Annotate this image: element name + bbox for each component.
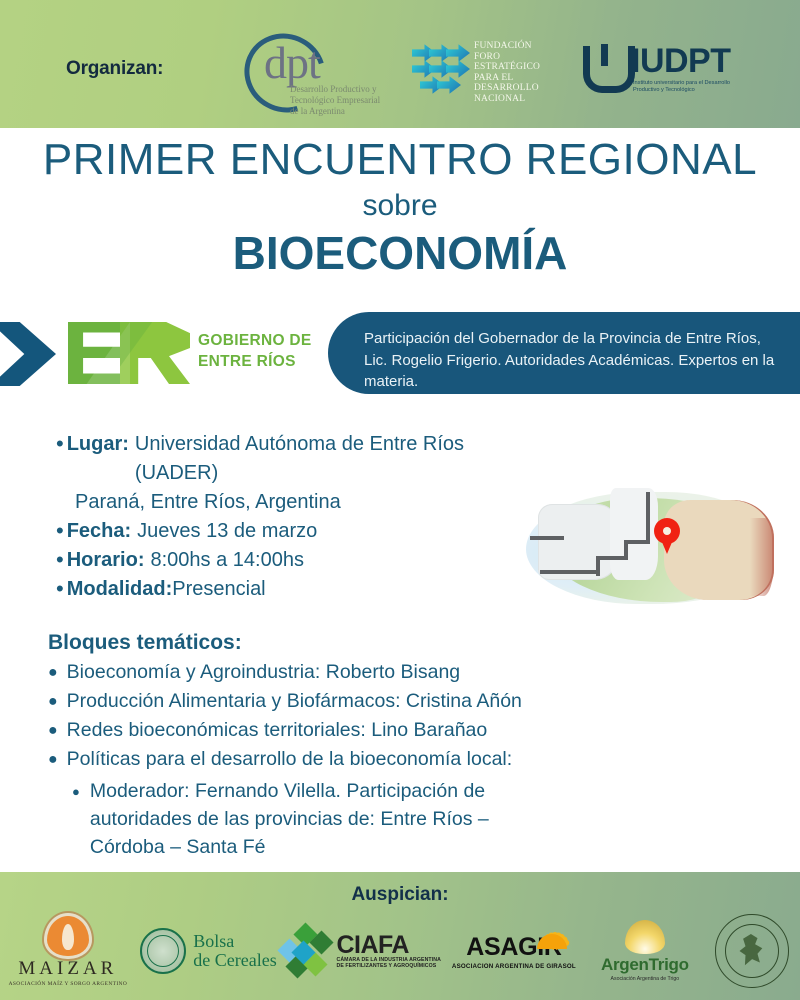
ciafa-wordmark: CIAFA [336,933,440,957]
asagir-subtitle: ASOCIACION ARGENTINA DE GIRASOL [441,963,586,970]
unl-seal-icon [715,914,789,988]
detail-row-modalidad: • Modalidad: Presencial [56,575,486,604]
iudpt-logo: IUDPT Instituto universitario para el De… [583,44,753,102]
map-pin-dot [663,527,671,535]
detail-value-modalidad: Presencial [172,575,265,604]
detail-key-lugar: Lugar: [67,430,129,459]
ciafa-diamonds-icon [281,926,331,976]
bullet-icon: ● [72,777,80,806]
title-line-primary: PRIMER ENCUENTRO REGIONAL [0,133,800,187]
bullet-icon: • [56,575,64,602]
thematic-block-item: ● Producción Alimentaria y Biofármacos: … [48,687,648,716]
detail-row-horario: • Horario: 8:00hs a 14:00hs [56,546,486,575]
detail-value-horario: 8:00hs a 14:00hs [151,546,304,575]
participation-note-text: Participación del Gobernador de la Provi… [364,328,780,393]
detail-key-modalidad: Modalidad: [67,575,173,604]
argentrigo-wordmark: ArgenTrigo [587,955,703,975]
map-region-west [538,504,618,580]
bolsa-wordmark-line-2: de Cereales [193,951,276,970]
argentrigo-wordmark-part-2: Trigo [649,955,689,974]
thematic-block-item-label: Redes bioeconómicas territoriales: Lino … [67,716,488,745]
thematic-block-item-label: Producción Alimentaria y Biofármacos: Cr… [67,687,522,716]
map-region-border [750,518,774,596]
ciafa-wordmark-group: CIAFA CÁMARA DE LA INDUSTRIA ARGENTINA D… [336,933,440,970]
arrows-icon [412,43,470,95]
bullet-icon: ● [48,687,58,716]
bolsa-wordmark: Bolsa de Cereales [193,932,276,970]
detail-row-lugar: • Lugar: Universidad Autónoma de Entre R… [56,430,486,488]
bullet-icon: ● [48,745,58,774]
sponsor-logo-universidad-nacional-del-litoral: UNIVERSIDAD NACIONAL DEL LITORAL LUX IND… [703,914,800,988]
iudpt-wordmark: IUDPT [631,44,731,78]
bolsa-wordmark-line-1: Bolsa [193,932,276,951]
poster-root: Organizan: dpt Desarrollo Productivo y T… [0,0,800,1000]
iudpt-subtitle: Instituto universitario para el Desarrol… [633,80,751,94]
sponsors-row: MAIZAR ASOCIACIÓN MAÍZ Y SORGO ARGENTINO… [0,908,800,994]
maizar-subtitle: ASOCIACIÓN MAÍZ Y SORGO ARGENTINO [0,981,136,987]
detail-value-fecha: Jueves 13 de marzo [137,517,317,546]
title-line-connector: sobre [0,187,800,225]
government-label-line-1: GOBIERNO DE [198,330,312,351]
title-block: PRIMER ENCUENTRO REGIONAL sobre BIOECONO… [0,133,800,281]
map-border-line [598,556,626,560]
sponsor-logo-argentrigo: ArgenTrigo Asociación Argentina de Trigo [587,920,703,982]
argentrigo-subtitle: Asociación Argentina de Trigo [587,976,703,982]
fundacion-line-3: PARA EL [474,73,566,84]
map-region-central [610,488,658,580]
entre-rios-logo [68,322,190,384]
maizar-wordmark: MAIZAR [0,958,136,980]
fundacion-foro-estrategico-logo: FUNDACIÓN FORO ESTRATÉGICO PARA EL DESAR… [412,41,562,101]
detail-value-lugar: Universidad Autónoma de Entre Ríos (UADE… [135,430,486,488]
bullet-icon: ● [48,658,58,687]
government-label: GOBIERNO DE ENTRE RÍOS [198,330,312,372]
thematic-block-item: ● Redes bioeconómicas territoriales: Lin… [48,716,648,745]
thematic-block-item-label: Políticas para el desarrollo de la bioec… [67,745,513,774]
sponsor-logo-asagir: ASAGIR ASOCIACION ARGENTINA DE GIRASOL [441,933,586,970]
bullet-icon: ● [48,716,58,745]
map-pin-icon [654,518,680,554]
fundacion-line-5: NACIONAL [474,94,566,105]
corn-kernel-icon [47,916,89,956]
sunflower-icon [531,917,573,947]
fundacion-text: FUNDACIÓN FORO ESTRATÉGICO PARA EL DESAR… [474,41,566,104]
thematic-block-subitem-label: Moderador: Fernando Vilella. Participaci… [90,777,560,861]
unl-emblem-figure [737,934,767,968]
ciafa-subtitle-line-2: DE FERTILIZANTES Y AGROQUÍMICOS [336,963,440,969]
detail-key-fecha: Fecha: [67,517,131,546]
dpt-wordmark: dpt [264,40,320,86]
detail-key-horario: Horario: [67,546,145,575]
thematic-block-item: ● Políticas para el desarrollo de la bio… [48,745,648,774]
fundacion-line-4: DESARROLLO [474,83,566,94]
dpt-subtitle: Desarrollo Productivo y Tecnológico Empr… [290,84,382,117]
sponsors-label: Auspician: [0,884,800,906]
title-line-topic: BIOECONOMÍA [0,225,800,281]
corn-kernel-inner [62,924,74,950]
bullet-icon: • [56,430,64,457]
iudpt-u-icon [583,46,635,93]
sponsor-logo-bolsa-de-cereales: Bolsa de Cereales [136,928,281,974]
thematic-blocks-title: Bloques temáticos: [48,628,648,658]
bolsa-seal-icon [140,928,186,974]
chevron-right-icon [0,322,56,386]
map-border-line [646,492,650,542]
thematic-block-subitem: ● Moderador: Fernando Vilella. Participa… [48,777,648,861]
detail-row-fecha: • Fecha: Jueves 13 de marzo [56,517,486,546]
thematic-block-item-label: Bioeconomía y Agroindustria: Roberto Bis… [67,658,460,687]
sponsor-logo-maizar: MAIZAR ASOCIACIÓN MAÍZ Y SORGO ARGENTINO [0,916,136,987]
dpt-logo: dpt Desarrollo Productivo y Tecnológico … [240,32,370,116]
sponsor-logo-ciafa: CIAFA CÁMARA DE LA INDUSTRIA ARGENTINA D… [281,926,441,976]
thematic-block-item: ● Bioeconomía y Agroindustria: Roberto B… [48,658,648,687]
bullet-icon: • [56,546,64,573]
wheat-burst-icon [625,920,665,954]
fundacion-line-2: FORO ESTRATÉGICO [474,52,566,73]
event-details-list: • Lugar: Universidad Autónoma de Entre R… [56,430,486,604]
bullet-icon: • [56,517,64,544]
detail-continuation-lugar: Paraná, Entre Ríos, Argentina [56,488,486,517]
government-label-line-2: ENTRE RÍOS [198,351,312,372]
map-border-line [540,570,598,574]
map-border-line [530,536,564,540]
organizers-label: Organizan: [66,58,163,80]
fundacion-line-1: FUNDACIÓN [474,41,566,52]
thematic-blocks: Bloques temáticos: ● Bioeconomía y Agroi… [48,628,648,861]
argentrigo-wordmark-part-1: Argen [601,955,649,974]
location-map: Paraná, Entre Ríos [512,478,788,613]
participation-note-box: Participación del Gobernador de la Provi… [328,312,800,394]
